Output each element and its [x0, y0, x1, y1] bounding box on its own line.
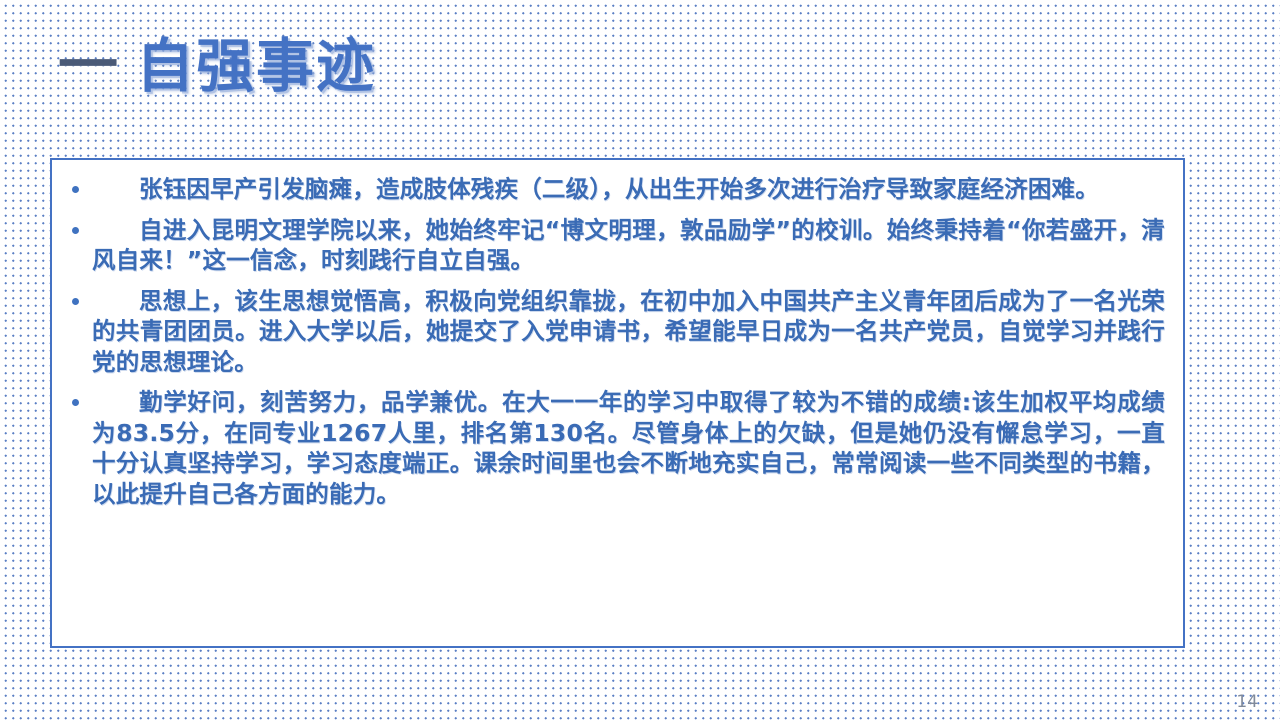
bullet-dot-icon — [72, 399, 79, 406]
list-item-text: 思想上，该生思想觉悟高，积极向党组织靠拢，在初中加入中国共产主义青年团后成为了一… — [92, 286, 1165, 378]
slide-root: 一 自强事迹 张钰因早产引发脑瘫，造成肢体残疾（二级），从出生开始多次进行治疗导… — [0, 0, 1280, 720]
page-number: 14 — [1236, 692, 1258, 712]
bullet-list: 张钰因早产引发脑瘫，造成肢体残疾（二级），从出生开始多次进行治疗导致家庭经济困难… — [62, 174, 1165, 509]
page-title: 自强事迹 — [136, 37, 376, 95]
list-item-text: 自进入昆明文理学院以来，她始终牢记“博文明理，敦品励学”的校训。始终秉持着“你若… — [92, 215, 1165, 276]
list-item: 张钰因早产引发脑瘫，造成肢体残疾（二级），从出生开始多次进行治疗导致家庭经济困难… — [62, 174, 1165, 205]
list-item-text: 张钰因早产引发脑瘫，造成肢体残疾（二级），从出生开始多次进行治疗导致家庭经济困难… — [92, 174, 1165, 205]
bullet-dot-icon — [72, 298, 79, 305]
content-card: 张钰因早产引发脑瘫，造成肢体残疾（二级），从出生开始多次进行治疗导致家庭经济困难… — [50, 158, 1185, 648]
bullet-dot-icon — [72, 227, 79, 234]
list-item: 思想上，该生思想觉悟高，积极向党组织靠拢，在初中加入中国共产主义青年团后成为了一… — [62, 286, 1165, 378]
slide-title: 一 自强事迹 — [58, 30, 376, 102]
title-section-dash: 一 — [58, 36, 118, 96]
list-item: 勤学好问，刻苦努力，品学兼优。在大一一年的学习中取得了较为不错的成绩:该生加权平… — [62, 387, 1165, 509]
list-item-text: 勤学好问，刻苦努力，品学兼优。在大一一年的学习中取得了较为不错的成绩:该生加权平… — [92, 387, 1165, 509]
bullet-dot-icon — [72, 186, 79, 193]
list-item: 自进入昆明文理学院以来，她始终牢记“博文明理，敦品励学”的校训。始终秉持着“你若… — [62, 215, 1165, 276]
